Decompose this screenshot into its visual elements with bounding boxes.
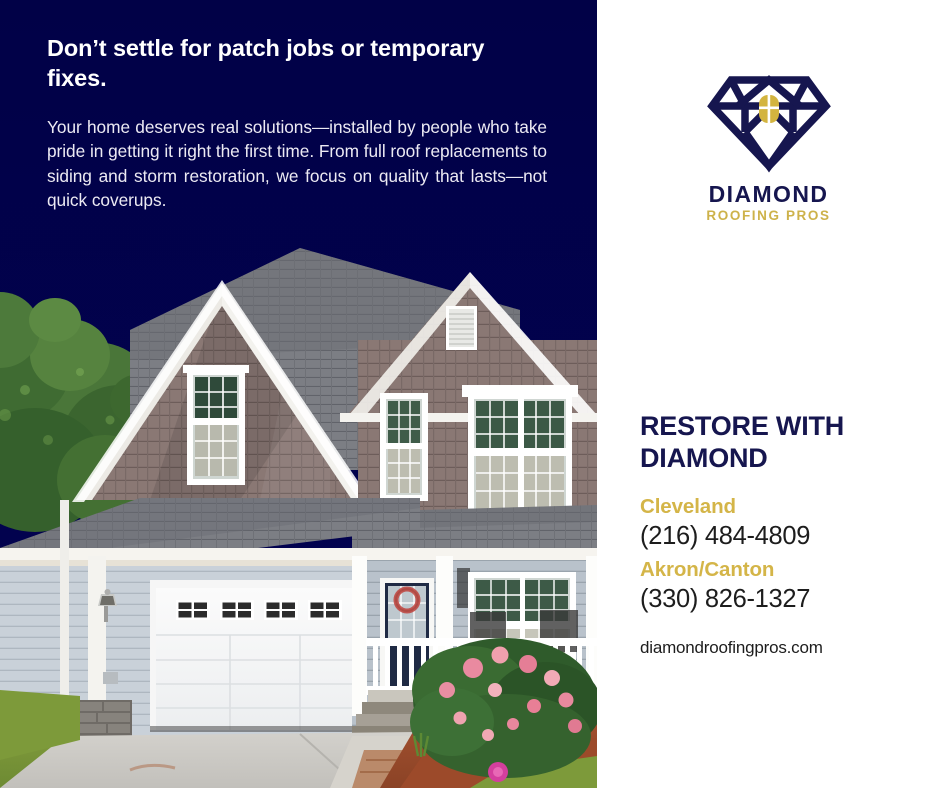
diamond-house-icon bbox=[704, 68, 834, 173]
logo-wordmark: DIAMOND bbox=[597, 182, 940, 206]
marketing-flyer: Don’t settle for patch jobs or temporary… bbox=[0, 0, 940, 788]
headline: Don’t settle for patch jobs or temporary… bbox=[47, 34, 547, 93]
brand-logo: DIAMOND ROOFING PROS bbox=[597, 68, 940, 226]
website-link[interactable]: diamondroofingpros.com bbox=[640, 638, 930, 658]
left-copy-block: Don’t settle for patch jobs or temporary… bbox=[47, 34, 547, 212]
location-cleveland: Cleveland (216) 484-4809 bbox=[640, 494, 930, 553]
phone-akron-canton[interactable]: (330) 826-1327 bbox=[640, 583, 930, 616]
right-panel: DIAMOND ROOFING PROS RESTORE WITH DIAMON… bbox=[597, 0, 940, 788]
location-akron-canton: Akron/Canton (330) 826-1327 bbox=[640, 557, 930, 616]
city-label-akron-canton: Akron/Canton bbox=[640, 557, 930, 583]
city-label-cleveland: Cleveland bbox=[640, 494, 930, 520]
logo-tagline: ROOFING PROS bbox=[597, 206, 940, 226]
body-copy: Your home deserves real solutions—instal… bbox=[47, 115, 547, 212]
cta-title: RESTORE WITH DIAMOND bbox=[640, 411, 930, 474]
contact-block: RESTORE WITH DIAMOND Cleveland (216) 484… bbox=[640, 411, 930, 658]
left-panel: Don’t settle for patch jobs or temporary… bbox=[0, 0, 597, 788]
phone-cleveland[interactable]: (216) 484-4809 bbox=[640, 520, 930, 553]
